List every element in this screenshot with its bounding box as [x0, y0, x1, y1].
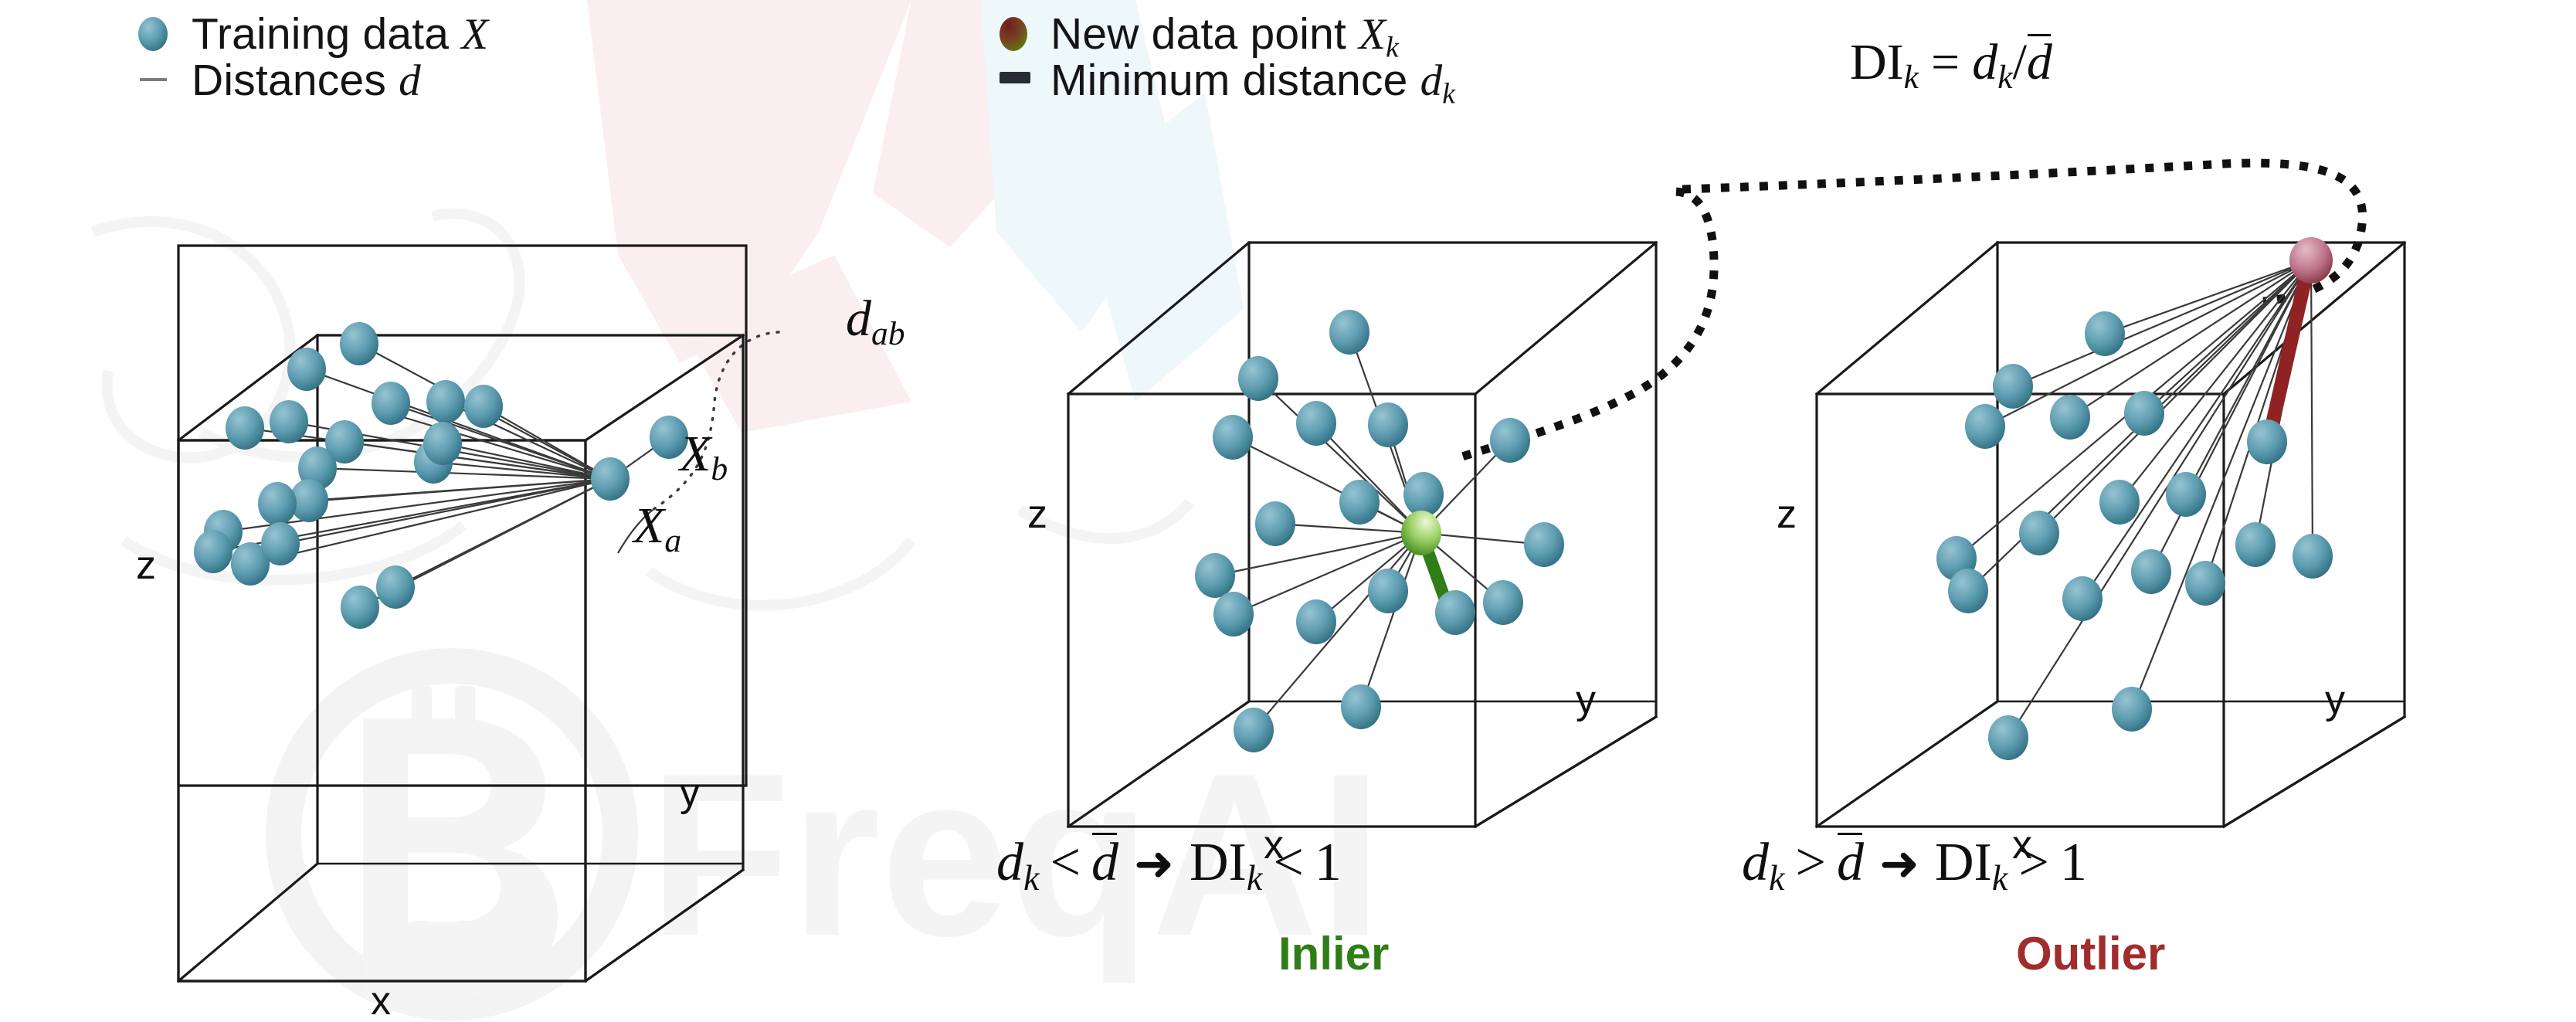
outlier-dk-symbol: d — [1742, 833, 1769, 892]
di-slash: / — [2013, 34, 2027, 90]
legend-distances-label: Distances — [192, 56, 399, 105]
dk-leader-line — [1460, 163, 2363, 457]
x-a-sub: a — [664, 522, 681, 559]
axis-label-x-panel1: x — [371, 981, 391, 1021]
panel-training-cube — [178, 246, 746, 981]
outlier-relation-2: > — [2008, 833, 2059, 892]
legend-item-minimum-distance: Minimum distance dk — [1050, 59, 1455, 109]
di-lhs: DI — [1850, 34, 1904, 90]
hub-point-xk-inlier — [1401, 511, 1441, 555]
legend-new-point-label: New data point — [1050, 9, 1359, 59]
legend-marker-min-distance-dash — [1000, 72, 1030, 83]
annotation-x-b: Xb — [680, 429, 728, 487]
verdict-outlier: Outlier — [2016, 931, 2165, 977]
legend-training-label: Training data — [192, 9, 461, 59]
caption-inlier-formula: dk<d➜DIk<1 — [996, 836, 1342, 896]
outlier-di-sub: k — [1992, 858, 2008, 898]
outlier-relation-1: > — [1785, 833, 1837, 892]
hub-point-xk-outlier — [2289, 237, 2333, 284]
inlier-dk-symbol: d — [996, 833, 1023, 892]
annotation-x-a: Xa — [633, 501, 681, 559]
caption-outlier-formula: dk>d➜DIk>1 — [1742, 836, 2087, 896]
axis-label-y-panel2: y — [1576, 680, 1596, 720]
hub-point-xa — [591, 457, 630, 501]
axis-label-z-panel1: z — [136, 545, 156, 586]
legend-training-symbol: X — [461, 10, 488, 59]
legend-new-point-symbol: X — [1359, 10, 1386, 59]
d-ab-sub: ab — [871, 315, 905, 352]
di-equals: = — [1919, 34, 1972, 90]
x-b-symbol: X — [680, 426, 711, 482]
di-definition-formula: DIk=dk/d — [1850, 37, 2052, 95]
axis-label-z-panel3: z — [1777, 494, 1797, 535]
x-b-sub: b — [711, 450, 728, 487]
di-numerator: d — [1972, 34, 1997, 90]
outlier-dbar: d — [1837, 836, 1864, 890]
legend-marker-new-point-sphere — [1000, 17, 1027, 51]
inlier-relation-2: < — [1262, 833, 1314, 892]
training-points-panel3 — [1936, 311, 2333, 760]
di-numerator-sub: k — [1997, 59, 2012, 96]
d-ab-symbol: d — [846, 290, 871, 347]
outlier-di: DI — [1935, 833, 1992, 892]
panel-outlier-cube — [1817, 237, 2405, 827]
inlier-di-sub: k — [1247, 858, 1263, 898]
legend-marker-training-sphere — [138, 17, 168, 51]
inlier-dbar: d — [1091, 836, 1118, 890]
axis-label-y-panel1: y — [680, 772, 700, 813]
outlier-threshold: 1 — [2060, 833, 2087, 892]
diagram-canvas: FreqAI — [0, 0, 2576, 1022]
inlier-threshold: 1 — [1315, 833, 1342, 892]
legend-item-distances: Distances d — [192, 59, 421, 103]
legend-distances-symbol: d — [399, 56, 421, 105]
inlier-implies-arrow-icon: ➜ — [1118, 835, 1190, 891]
inlier-relation-1: < — [1040, 833, 1091, 892]
di-lhs-sub: k — [1904, 59, 1919, 96]
legend-min-distance-sub: k — [1442, 78, 1455, 110]
legend-min-distance-symbol: d — [1420, 56, 1443, 105]
panel-inlier-cube — [1068, 243, 1656, 827]
inlier-dk-sub: k — [1023, 858, 1040, 898]
annotation-d-ab: dab — [846, 294, 905, 351]
outlier-dk-sub: k — [1769, 858, 1785, 898]
outlier-implies-arrow-icon: ➜ — [1864, 835, 1935, 891]
axis-label-z-panel2: z — [1027, 494, 1047, 535]
legend-min-distance-label: Minimum distance — [1050, 56, 1420, 105]
verdict-inlier: Inlier — [1278, 931, 1389, 977]
inlier-di: DI — [1190, 833, 1247, 892]
legend-item-training-data: Training data X — [192, 12, 488, 56]
axis-label-y-panel3: y — [2325, 680, 2345, 720]
di-denominator-dbar: d — [2027, 37, 2052, 88]
x-a-symbol: X — [633, 497, 664, 554]
